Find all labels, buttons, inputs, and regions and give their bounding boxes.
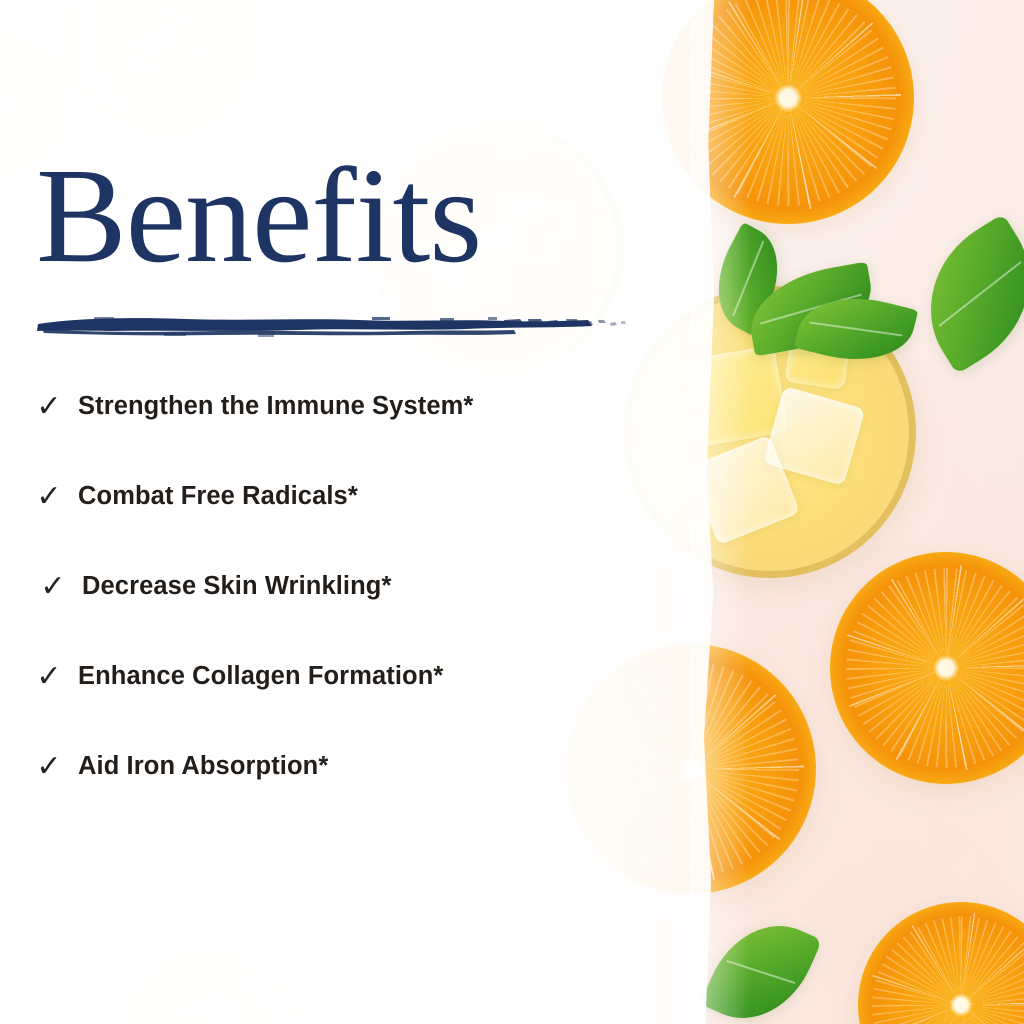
content-layer: Benefits [0,0,1024,1024]
benefit-label: Strengthen the Immune System* [78,394,473,420]
page-title: Benefits [36,148,481,284]
benefit-item-2: ✓ Combat Free Radicals* [36,482,358,512]
benefit-item-1: ✓ Strengthen the Immune System* [36,392,473,422]
benefit-label: Aid Iron Absorption* [78,754,328,780]
check-icon: ✓ [36,752,62,782]
benefit-item-5: ✓ Aid Iron Absorption* [36,752,328,782]
check-icon: ✓ [36,482,62,512]
benefit-item-4: ✓ Enhance Collagen Formation* [36,662,443,692]
benefit-label: Decrease Skin Wrinkling* [82,574,391,600]
check-icon: ✓ [36,662,62,692]
benefit-label: Enhance Collagen Formation* [78,664,443,690]
benefits-infographic: Benefits [0,0,1024,1024]
benefit-item-3: ✓ Decrease Skin Wrinkling* [36,572,391,602]
check-icon: ✓ [36,392,62,422]
benefit-label: Combat Free Radicals* [78,484,358,510]
check-icon: ✓ [40,572,66,602]
brush-stroke-underline [36,300,626,344]
